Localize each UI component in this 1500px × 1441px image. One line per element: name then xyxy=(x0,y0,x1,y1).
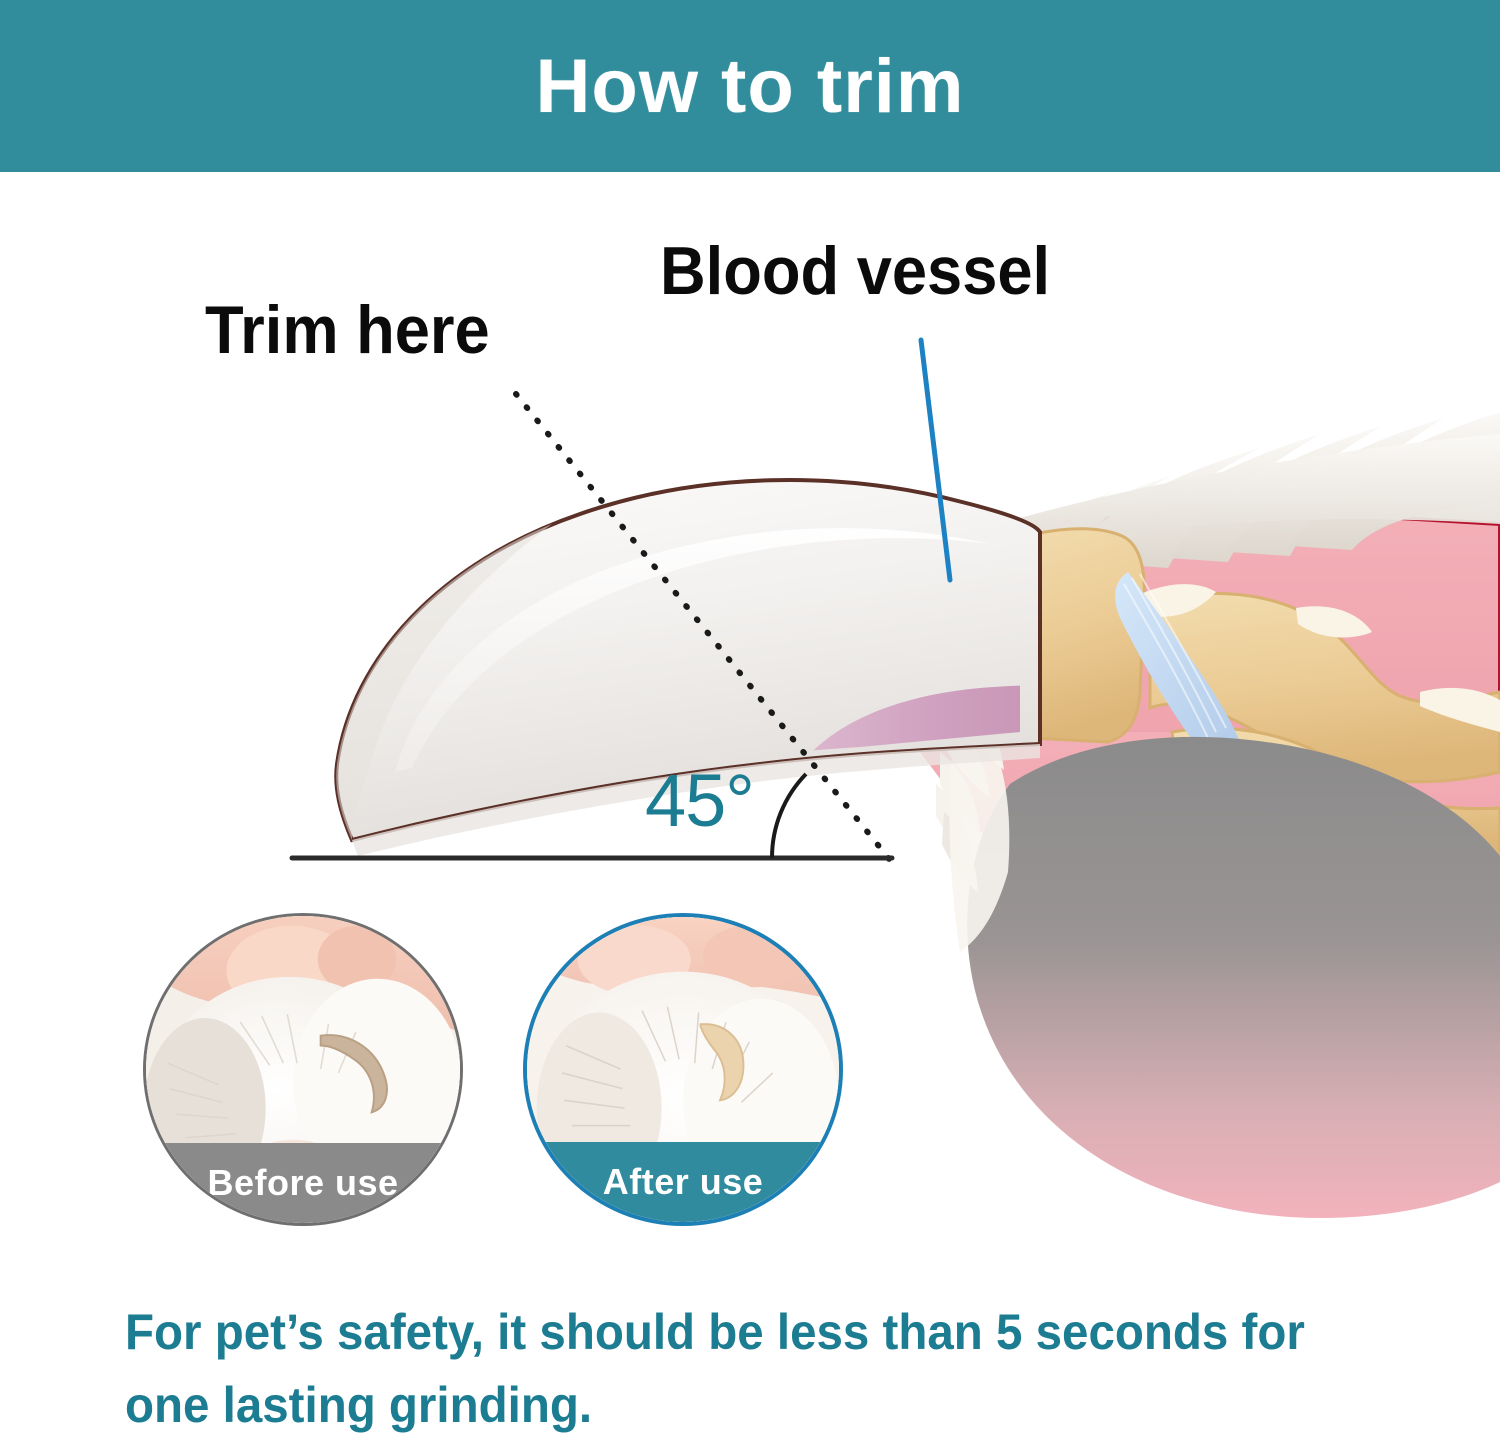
label-blood-vessel: Blood vessel xyxy=(660,232,1050,310)
after-use-banner: After use xyxy=(527,1142,839,1222)
photo-before-use: Before use xyxy=(143,913,463,1226)
safety-footnote: For pet’s safety, it should be less than… xyxy=(125,1296,1379,1441)
page-title: How to trim xyxy=(536,43,965,130)
before-use-banner: Before use xyxy=(146,1143,460,1223)
infographic-root: How to trim xyxy=(0,0,1500,1441)
before-use-label: Before use xyxy=(207,1162,398,1204)
after-use-label: After use xyxy=(603,1161,764,1203)
photo-after-use: After use xyxy=(523,913,843,1226)
paw-pad xyxy=(967,737,1500,1218)
label-angle-45: 45° xyxy=(645,758,754,843)
header-banner: How to trim xyxy=(0,0,1500,172)
angle-arc xyxy=(772,774,806,858)
label-trim-here: Trim here xyxy=(205,291,490,369)
